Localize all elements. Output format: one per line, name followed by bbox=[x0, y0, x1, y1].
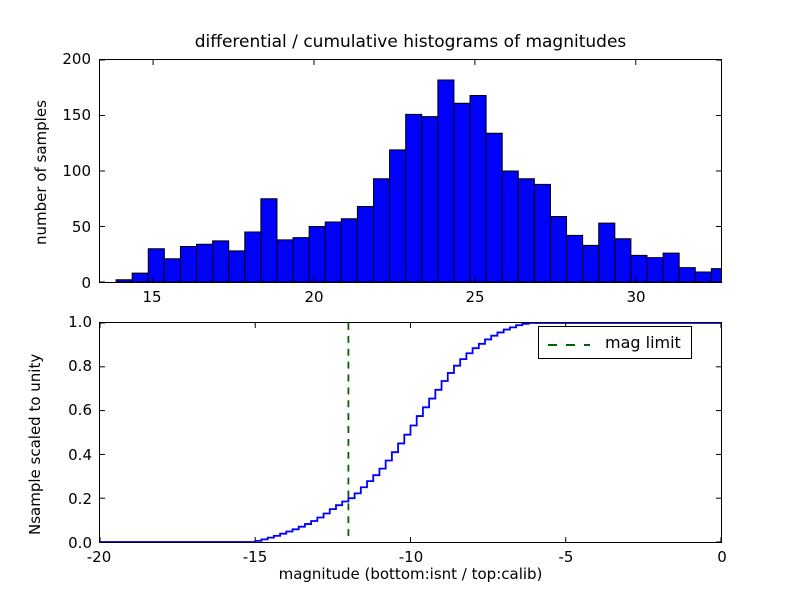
figure: differential / cumulative histograms of … bbox=[0, 0, 800, 600]
top-ytick-50: 50 bbox=[49, 218, 91, 236]
bottom-ytick-06: 0.6 bbox=[42, 401, 92, 419]
top-ytick-0: 0 bbox=[49, 274, 91, 292]
bottom-panel-xlabel: magnitude (bottom:isnt / top:calib) bbox=[99, 565, 722, 583]
top-xtick-25: 25 bbox=[465, 288, 484, 306]
bottom-panel-ylabel: Nsample scaled to unity bbox=[26, 354, 44, 535]
top-ytick-200: 200 bbox=[49, 50, 91, 68]
bottom-xtick-n10: -10 bbox=[399, 548, 424, 566]
top-xtick-15: 15 bbox=[142, 288, 161, 306]
top-xtick-30: 30 bbox=[626, 288, 645, 306]
bottom-ytick-08: 0.8 bbox=[42, 357, 92, 375]
legend[interactable]: mag limit bbox=[538, 326, 692, 359]
histogram-bars bbox=[116, 80, 721, 282]
bottom-ytick-10: 1.0 bbox=[42, 313, 92, 331]
bottom-xtick-n15: -15 bbox=[243, 548, 268, 566]
bottom-xtick-n20: -20 bbox=[87, 548, 112, 566]
top-panel-axes bbox=[99, 59, 722, 283]
bottom-xtick-n5: -5 bbox=[559, 548, 574, 566]
top-panel-ylabel: number of samples bbox=[32, 100, 50, 245]
top-ytick-150: 150 bbox=[49, 106, 91, 124]
bottom-ytick-00: 0.0 bbox=[42, 534, 92, 552]
top-panel-plot-area bbox=[100, 60, 721, 282]
chart-title: differential / cumulative histograms of … bbox=[99, 32, 722, 52]
bottom-ytick-04: 0.4 bbox=[42, 446, 92, 464]
bottom-xtick-0: 0 bbox=[717, 548, 727, 566]
mag-limit-legend-swatch bbox=[547, 342, 591, 344]
bottom-ytick-02: 0.2 bbox=[42, 490, 92, 508]
top-xtick-20: 20 bbox=[304, 288, 323, 306]
legend-label-mag-limit: mag limit bbox=[605, 333, 681, 352]
differential-histogram-svg bbox=[100, 60, 721, 282]
top-ytick-100: 100 bbox=[49, 162, 91, 180]
